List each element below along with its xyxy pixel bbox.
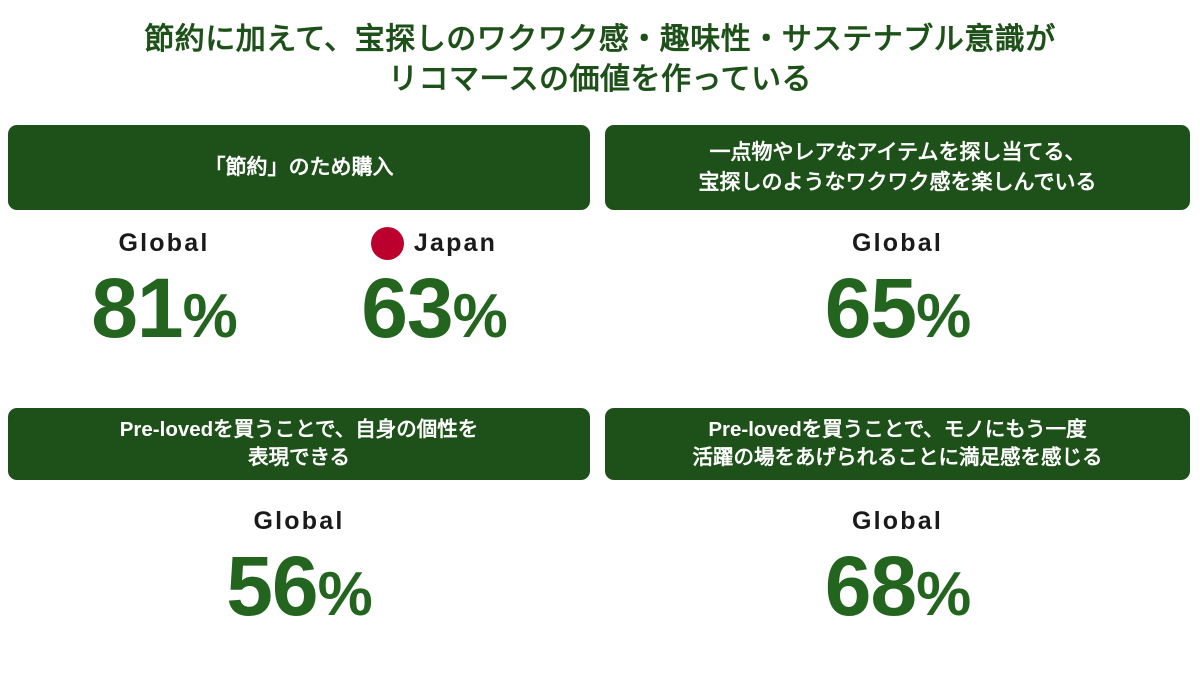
stat-treasure-hunt-global: Global 65% [738, 226, 1058, 365]
panel-self-expression-header-line-1: Pre-lovedを買うことで、自身の個性を [22, 416, 576, 444]
panel-treasure-hunt-header-line-2: 宝探しのようなワクワク感を楽しんでいる [619, 168, 1176, 198]
stat-sustainability-global-unit: % [916, 560, 970, 629]
stat-saving-japan-unit: % [453, 282, 507, 351]
panel-treasure-hunt-header: 一点物やレアなアイテムを探し当てる、 宝探しのようなワクワク感を楽しんでいる [605, 125, 1190, 210]
panel-sustainability-header-line-1: Pre-lovedを買うことで、モノにもう一度 [619, 416, 1176, 444]
stat-self-expression-global-label-line: Global [139, 504, 459, 538]
stat-self-expression-global: Global 56% [139, 504, 459, 643]
panel-self-expression-stats: Global 56% [8, 504, 590, 643]
panel-saving: 「節約」のため購入 Global 81% Japan 63% [8, 125, 590, 365]
panel-self-expression-header: Pre-lovedを買うことで、自身の個性を 表現できる [8, 408, 590, 480]
stat-treasure-hunt-global-label-line: Global [738, 226, 1058, 260]
stat-saving-global-number: 81 [91, 261, 182, 355]
stat-saving-global: Global 81% [29, 226, 299, 365]
stat-sustainability-global-value: 68% [738, 538, 1058, 643]
stat-sustainability-global-label-line: Global [738, 504, 1058, 538]
stat-saving-japan: Japan 63% [299, 226, 569, 365]
panel-self-expression-header-line-2: 表現できる [22, 444, 576, 472]
panel-saving-header: 「節約」のため購入 [8, 125, 590, 210]
stat-saving-global-label-line: Global [29, 226, 299, 260]
panel-sustainability: Pre-lovedを買うことで、モノにもう一度 活躍の場をあげられることに満足感… [605, 408, 1190, 643]
stat-sustainability-global-number: 68 [825, 539, 916, 633]
panel-saving-header-line-1: 「節約」のため購入 [22, 153, 576, 183]
stat-sustainability-global-label: Global [852, 506, 943, 536]
stat-saving-japan-number: 63 [361, 261, 452, 355]
stat-saving-global-label: Global [119, 228, 210, 258]
stat-self-expression-global-unit: % [318, 560, 372, 629]
panel-sustainability-stats: Global 68% [605, 504, 1190, 643]
stat-saving-global-unit: % [183, 282, 237, 351]
japan-flag-icon [371, 227, 404, 260]
stat-sustainability-global: Global 68% [738, 504, 1058, 643]
panel-sustainability-header: Pre-lovedを買うことで、モノにもう一度 活躍の場をあげられることに満足感… [605, 408, 1190, 480]
stat-treasure-hunt-global-number: 65 [825, 261, 916, 355]
panel-self-expression: Pre-lovedを買うことで、自身の個性を 表現できる Global 56% [8, 408, 590, 643]
stat-treasure-hunt-global-value: 65% [738, 260, 1058, 365]
panel-sustainability-header-line-2: 活躍の場をあげられることに満足感を感じる [619, 444, 1176, 472]
stat-saving-japan-label: Japan [414, 228, 497, 258]
page-title: 節約に加えて、宝探しのワクワク感・趣味性・サステナブル意識が リコマースの価値を… [0, 20, 1200, 100]
panel-treasure-hunt-header-line-1: 一点物やレアなアイテムを探し当てる、 [619, 138, 1176, 168]
stat-self-expression-global-label: Global [254, 506, 345, 536]
page-title-line-1: 節約に加えて、宝探しのワクワク感・趣味性・サステナブル意識が [0, 20, 1200, 60]
stat-treasure-hunt-global-unit: % [916, 282, 970, 351]
stat-saving-global-value: 81% [29, 260, 299, 365]
stat-saving-japan-value: 63% [299, 260, 569, 365]
stat-self-expression-global-number: 56 [226, 539, 317, 633]
panel-treasure-hunt: 一点物やレアなアイテムを探し当てる、 宝探しのようなワクワク感を楽しんでいる G… [605, 125, 1190, 365]
panel-treasure-hunt-stats: Global 65% [605, 226, 1190, 365]
stat-self-expression-global-value: 56% [139, 538, 459, 643]
stat-treasure-hunt-global-label: Global [852, 228, 943, 258]
panel-saving-stats: Global 81% Japan 63% [8, 226, 590, 365]
stat-saving-japan-label-line: Japan [299, 226, 569, 260]
page-title-line-2: リコマースの価値を作っている [0, 60, 1200, 100]
